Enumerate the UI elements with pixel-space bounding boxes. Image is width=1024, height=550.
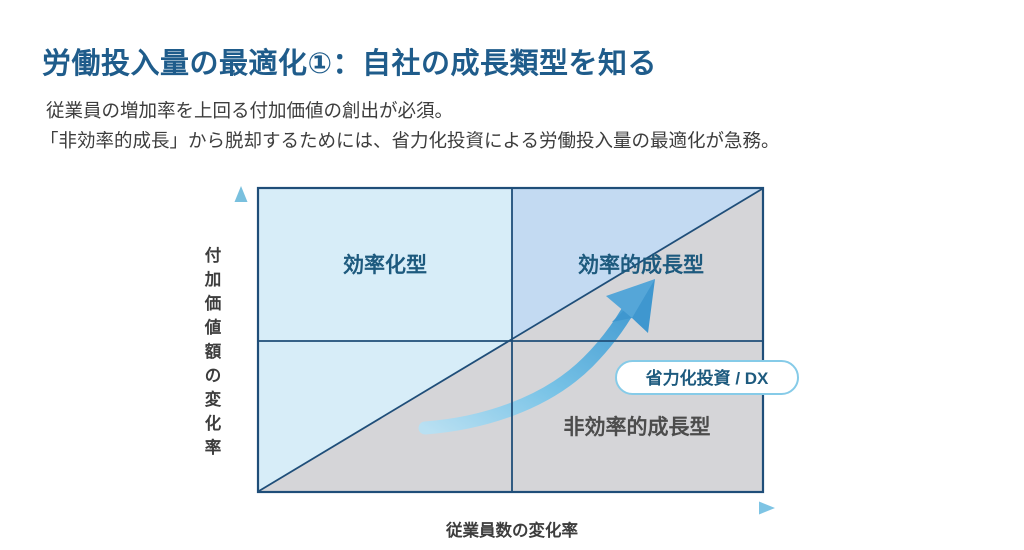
badge-label: 省力化投資 / DX [645,368,769,388]
y-axis-label-char: 率 [205,437,222,457]
y-axis-label-char: 価 [204,293,222,313]
slide-canvas: 労働投入量の最適化①：自社の成長類型を知る 従業員の増加率を上回る付加価値の創出… [0,0,1024,550]
quadrant-chart-svg: 効率化型 効率的成長型 非効率的成長型 省力化投資 / DX 従業員数の変化率 [0,0,1024,550]
x-axis-label: 従業員数の変化率 [445,520,578,540]
quadrant-label-top-left: 効率化型 [343,253,427,277]
quadrant-label-top-right: 効率的成長型 [578,253,704,277]
quadrant-label-bottom-right: 非効率的成長型 [564,415,711,439]
y-axis-label-char: の [205,367,222,385]
y-axis-label-char: 付 [205,245,222,265]
y-axis-label-char: 値 [204,317,222,337]
quadrant-chart: 効率化型 効率的成長型 非効率的成長型 省力化投資 / DX 従業員数の変化率 [0,0,1024,550]
investment-badge[interactable]: 省力化投資 / DX [616,361,798,394]
y-axis-label: 付 加 価 値 額 の 変 化 率 [204,245,222,457]
y-axis-label-char: 加 [204,270,222,289]
y-axis-arrow [235,186,248,497]
x-axis-arrow [256,502,775,515]
y-axis-label-char: 額 [204,341,222,361]
y-axis-label-char: 化 [205,413,222,433]
y-axis-label-char: 変 [205,389,222,409]
